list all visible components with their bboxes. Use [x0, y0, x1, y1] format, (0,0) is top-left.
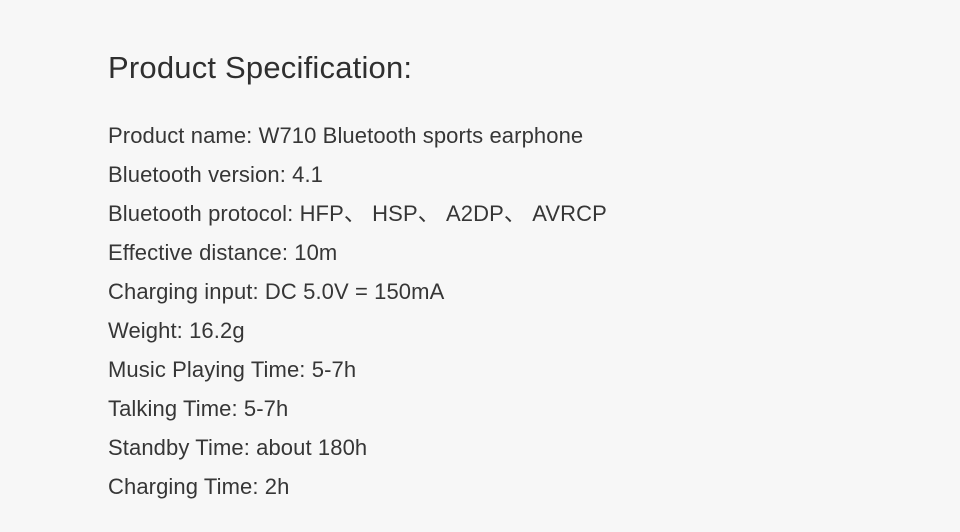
list-item: Bluetooth protocol: HFP、 HSP、 A2DP、 AVRC…	[108, 194, 928, 233]
list-item: Bluetooth version: 4.1	[108, 155, 928, 194]
list-item: Standby Time: about 180h	[108, 428, 928, 467]
list-item: Charging input: DC 5.0V = 150mA	[108, 272, 928, 311]
product-specification-sheet: Product Specification: Product name: W71…	[0, 0, 960, 532]
list-item: Effective distance: 10m	[108, 233, 928, 272]
list-item: Talking Time: 5-7h	[108, 389, 928, 428]
page-title: Product Specification:	[108, 49, 412, 87]
list-item: Weight: 16.2g	[108, 311, 928, 350]
list-item: Music Playing Time: 5-7h	[108, 350, 928, 389]
list-item: Charging Time: 2h	[108, 467, 928, 506]
specification-list: Product name: W710 Bluetooth sports earp…	[108, 116, 928, 506]
list-item: Product name: W710 Bluetooth sports earp…	[108, 116, 928, 155]
